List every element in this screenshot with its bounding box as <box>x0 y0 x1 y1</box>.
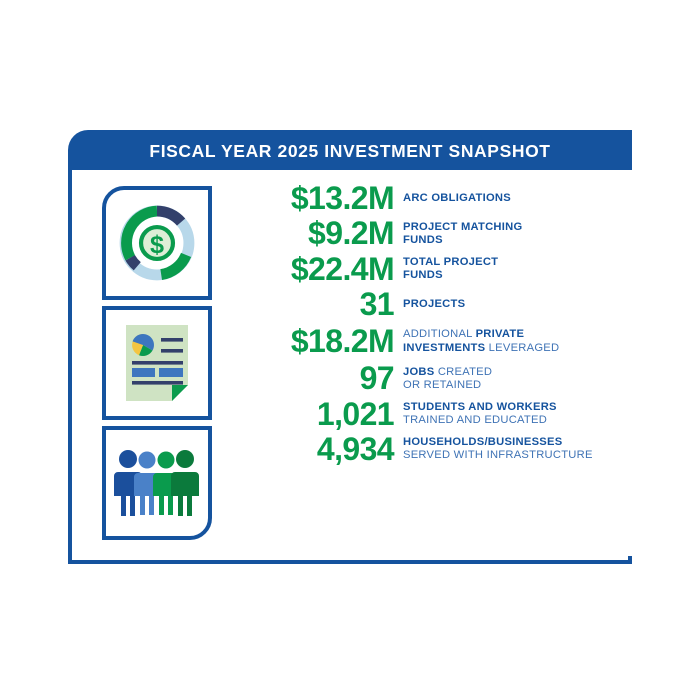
stat-label: PROJECTS <box>403 298 626 311</box>
header-bar: FISCAL YEAR 2025 INVESTMENT SNAPSHOT <box>68 130 632 170</box>
stat-label-line2-light: OR RETAINED <box>403 379 626 392</box>
icon-box-funding: $ <box>102 186 212 300</box>
stat-value: 4,934 <box>226 433 394 466</box>
report-document-icon <box>106 310 208 416</box>
infographic-card: FISCAL YEAR 2025 INVESTMENT SNAPSHOT <box>68 130 632 564</box>
stat-row: $9.2M PROJECT MATCHING FUNDS <box>226 217 626 250</box>
stat-value: 31 <box>226 288 394 321</box>
stat-label-line2-bold: FUNDS <box>403 269 626 282</box>
stat-row: 97 JOBS CREATED OR RETAINED <box>226 362 626 395</box>
stat-value: 97 <box>226 362 394 395</box>
stat-label-line2: INVESTMENTS LEVERAGED <box>403 342 626 355</box>
card-body-inner: $ <box>76 170 632 556</box>
stat-label-bold: PRIVATE <box>476 328 525 340</box>
stat-value: $18.2M <box>226 325 394 358</box>
stat-row: $22.4M TOTAL PROJECT FUNDS <box>226 253 626 286</box>
stat-value: $13.2M <box>226 182 394 215</box>
stat-label-suffix-light: LEVERAGED <box>485 342 559 354</box>
stat-label-bold: HOUSEHOLDS/BUSINESSES <box>403 436 562 448</box>
icon-box-reports <box>102 306 212 420</box>
stat-label: ADDITIONAL PRIVATE INVESTMENTS LEVERAGED <box>403 328 626 355</box>
stat-label: PROJECT MATCHING FUNDS <box>403 221 626 248</box>
stat-label: STUDENTS AND WORKERS TRAINED AND EDUCATE… <box>403 401 626 428</box>
card-body-frame: $ <box>68 170 632 564</box>
stat-label-line2-light: SERVED WITH INFRASTRUCTURE <box>403 449 626 462</box>
stat-label: HOUSEHOLDS/BUSINESSES SERVED WITH INFRAS… <box>403 436 626 463</box>
stat-label-line2-light: TRAINED AND EDUCATED <box>403 414 626 427</box>
page-title: FISCAL YEAR 2025 INVESTMENT SNAPSHOT <box>68 141 632 162</box>
stat-label-prefix-light: ADDITIONAL <box>403 328 476 340</box>
stat-row: 31 PROJECTS <box>226 288 626 321</box>
stat-label-bold: STUDENTS AND WORKERS <box>403 401 557 413</box>
stat-label: TOTAL PROJECT FUNDS <box>403 256 626 283</box>
stat-value: 1,021 <box>226 398 394 431</box>
stat-label-bold: TOTAL PROJECT <box>403 256 498 268</box>
stat-label-line2-bold: INVESTMENTS <box>403 342 485 354</box>
people-group-icon <box>106 430 208 536</box>
stat-value: $9.2M <box>226 217 394 250</box>
stat-label-bold: JOBS <box>403 366 434 378</box>
stat-label-bold: PROJECTS <box>403 298 465 310</box>
stat-label: ARC OBLIGATIONS <box>403 192 626 205</box>
stat-label-bold: PROJECT MATCHING <box>403 221 522 233</box>
svg-text:$: $ <box>150 231 164 259</box>
stat-label-suffix-light: CREATED <box>434 366 492 378</box>
stat-row: 4,934 HOUSEHOLDS/BUSINESSES SERVED WITH … <box>226 433 626 466</box>
stats-list: $13.2M ARC OBLIGATIONS $9.2M PROJECT MAT… <box>226 182 626 466</box>
stat-label-line2-bold: FUNDS <box>403 234 626 247</box>
stat-row: $18.2M ADDITIONAL PRIVATE INVESTMENTS LE… <box>226 325 626 358</box>
donut-chart-dollar-icon: $ <box>106 190 208 296</box>
stat-row: $13.2M ARC OBLIGATIONS <box>226 182 626 215</box>
icon-box-people <box>102 426 212 540</box>
stat-value: $22.4M <box>226 253 394 286</box>
stat-label: JOBS CREATED OR RETAINED <box>403 366 626 393</box>
stat-label-bold: ARC OBLIGATIONS <box>403 192 511 204</box>
stat-row: 1,021 STUDENTS AND WORKERS TRAINED AND E… <box>226 398 626 431</box>
icon-column: $ <box>102 186 212 540</box>
